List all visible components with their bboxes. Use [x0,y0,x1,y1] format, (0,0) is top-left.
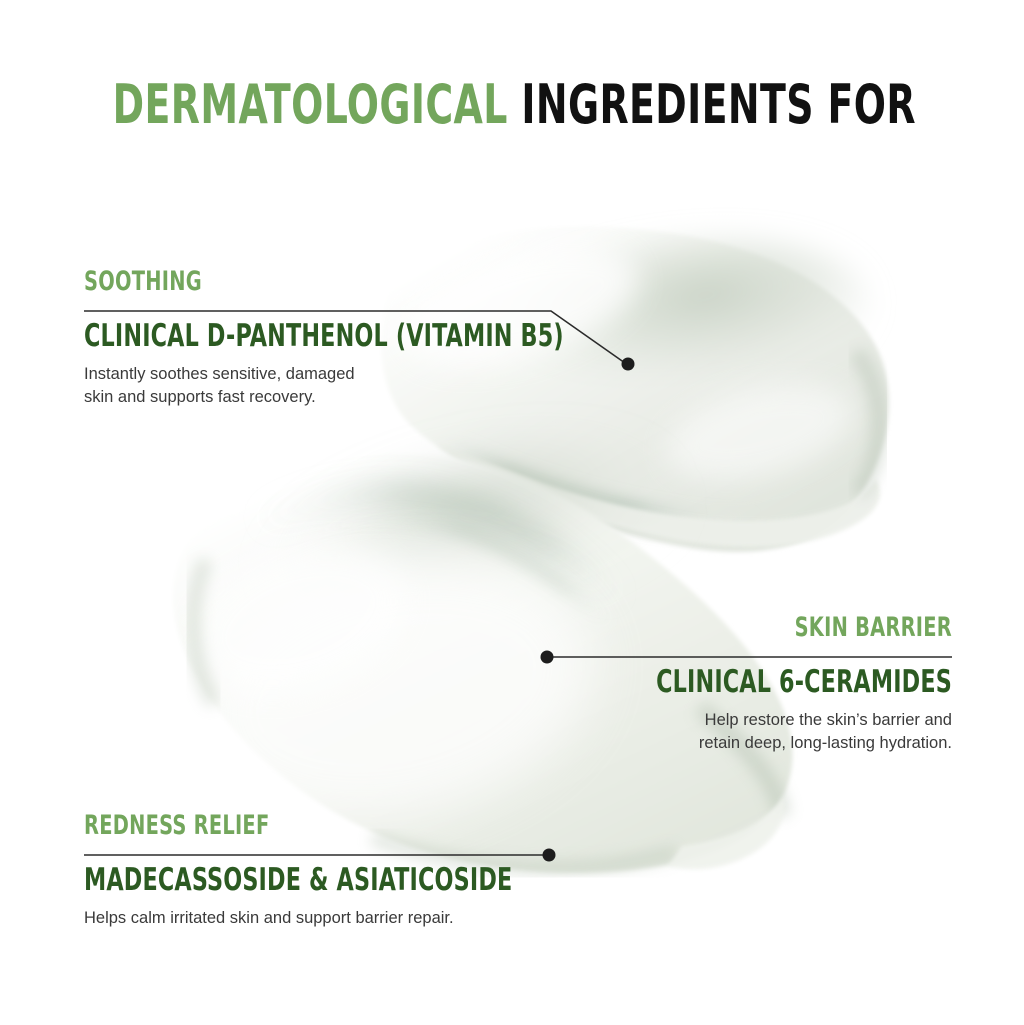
callout-ingredient-soothing: CLINICAL D-PANTHENOL (VITAMIN B5) [84,320,500,353]
callout-blurb-redness-relief: Helps calm irritated skin and support ba… [84,907,644,930]
callout-kicker-soothing: SOOTHING [84,268,500,296]
callout-kicker-redness-relief: REDNESS RELIEF [84,812,532,840]
page-title-dark: INGREDIENTS FOR [521,73,916,136]
page-title: DERMATOLOGICAL INGREDIENTS FOR [113,78,912,132]
callout-blurb-soothing: Instantly soothes sensitive, damaged ski… [84,363,604,409]
callout-ingredient-redness-relief: MADECASSOSIDE & ASIATICOSIDE [84,864,532,897]
callout-soothing: SOOTHING CLINICAL D-PANTHENOL (VITAMIN B… [84,268,604,408]
callout-ingredient-skin-barrier: CLINICAL 6-CERAMIDES [536,666,952,699]
callout-kicker-skin-barrier: SKIN BARRIER [536,614,952,642]
callout-blurb-skin-barrier: Help restore the skin’s barrier and reta… [432,709,952,755]
page-title-green: DERMATOLOGICAL [113,73,508,136]
callout-redness-relief: REDNESS RELIEF MADECASSOSIDE & ASIATICOS… [84,812,644,930]
callout-skin-barrier: SKIN BARRIER CLINICAL 6-CERAMIDES Help r… [432,614,952,754]
